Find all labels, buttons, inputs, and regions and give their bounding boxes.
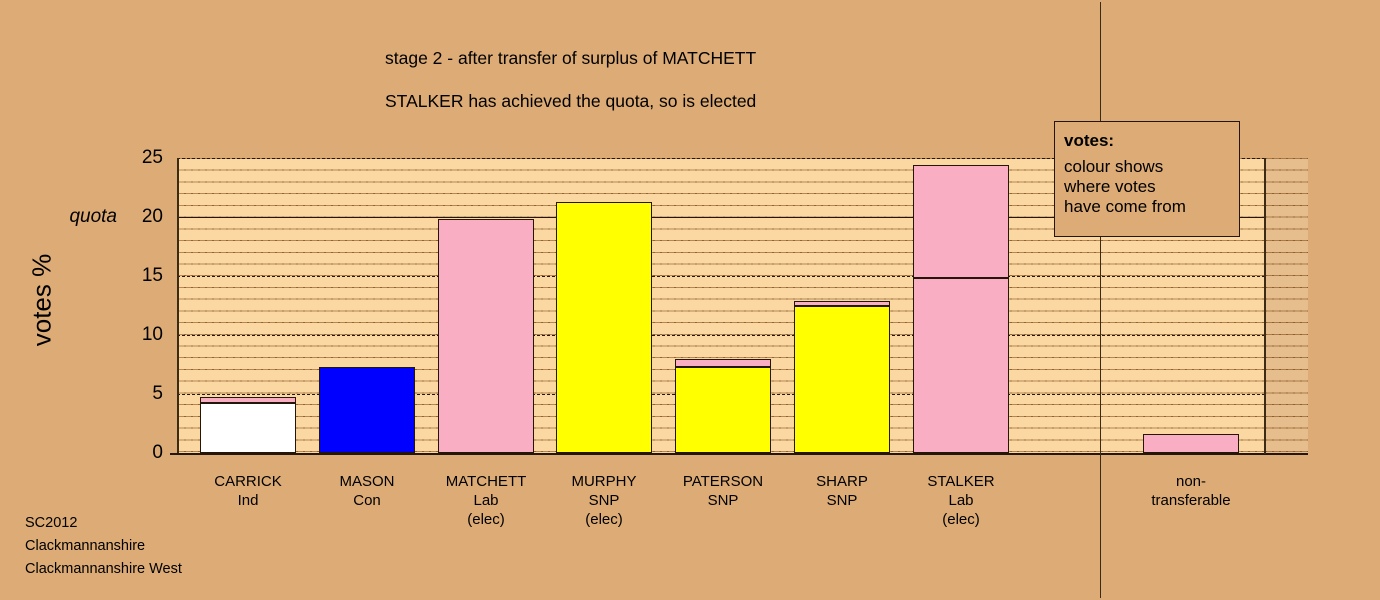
- legend-body: colour shows where votes have come from: [1064, 157, 1239, 217]
- ytick-5: 5: [152, 383, 163, 405]
- bar-paterson[interactable]: [675, 361, 771, 453]
- xlabel-status: (elec): [426, 510, 546, 529]
- ytick-0: 0: [152, 442, 163, 464]
- plot-right-border: [1264, 158, 1266, 454]
- legend-box: votes: colour shows where votes have com…: [1054, 121, 1240, 237]
- footer-ward: Clackmannanshire West: [25, 558, 182, 581]
- xlabel-paterson: PATERSON SNP: [663, 472, 783, 510]
- bar-segment-snp: [675, 367, 771, 453]
- bar-non-transferable[interactable]: [1143, 434, 1239, 453]
- bar-segment-ind: [200, 403, 296, 453]
- bar-matchett[interactable]: [438, 219, 534, 453]
- legend-line-2: where votes: [1064, 177, 1239, 197]
- xlabel-matchett: MATCHETT Lab (elec): [426, 472, 546, 529]
- bar-segment-transfer: [913, 165, 1009, 278]
- bar-murphy[interactable]: [556, 202, 652, 453]
- xlabel-party: SNP: [663, 491, 783, 510]
- bar-segment-transfer: [1143, 434, 1239, 453]
- y-axis-line: [177, 158, 179, 454]
- legend-line-1: colour shows: [1064, 157, 1239, 177]
- xlabel-name: MURPHY: [544, 472, 664, 491]
- footer-code: SC2012: [25, 512, 182, 535]
- legend-line-3: have come from: [1064, 197, 1239, 217]
- ytick-20: 20: [142, 206, 163, 228]
- bar-carrick[interactable]: [200, 399, 296, 453]
- xlabel-murphy: MURPHY SNP (elec): [544, 472, 664, 529]
- bars-layer: [0, 0, 1380, 600]
- xlabel-status: (elec): [901, 510, 1021, 529]
- bar-sharp[interactable]: [794, 303, 890, 453]
- chart-canvas: stage 2 - after transfer of surplus of M…: [0, 0, 1380, 600]
- xlabel-party: transferable: [1131, 491, 1251, 510]
- y-axis-title: votes %: [27, 254, 58, 347]
- xlabel-stalker: STALKER Lab (elec): [901, 472, 1021, 529]
- xlabel-name: non-: [1131, 472, 1251, 491]
- bar-mason[interactable]: [319, 367, 415, 453]
- bar-segment-lab: [913, 278, 1009, 453]
- xlabel-party: SNP: [544, 491, 664, 510]
- bar-segment-transfer: [794, 301, 890, 306]
- bar-segment-snp: [556, 202, 652, 453]
- bar-segment-transfer: [675, 359, 771, 367]
- xlabel-party: Lab: [426, 491, 546, 510]
- ytick-25: 25: [142, 147, 163, 169]
- x-axis-line: [170, 453, 1308, 455]
- bar-segment-lab: [438, 219, 534, 453]
- bar-segment-snp: [794, 306, 890, 453]
- xlabel-name: MASON: [307, 472, 427, 491]
- xlabel-party: Lab: [901, 491, 1021, 510]
- xlabel-party: Ind: [188, 491, 308, 510]
- quota-label: quota: [69, 206, 117, 228]
- xlabel-name: CARRICK: [188, 472, 308, 491]
- xlabel-party: Con: [307, 491, 427, 510]
- bar-segment-con: [319, 367, 415, 453]
- bar-segment-transfer: [200, 397, 296, 403]
- ytick-15: 15: [142, 265, 163, 287]
- y-axis-ticks: 0 5 10 15 20 25 quota votes %: [60, 0, 163, 600]
- bar-stalker[interactable]: [913, 166, 1009, 453]
- footer-block: SC2012 Clackmannanshire Clackmannanshire…: [25, 512, 182, 581]
- xlabel-status: (elec): [544, 510, 664, 529]
- xlabel-sharp: SHARP SNP: [782, 472, 902, 510]
- xlabel-carrick: CARRICK Ind: [188, 472, 308, 510]
- xlabel-name: STALKER: [901, 472, 1021, 491]
- xlabel-party: SNP: [782, 491, 902, 510]
- xlabel-non-transferable: non- transferable: [1131, 472, 1251, 510]
- footer-council: Clackmannanshire: [25, 535, 182, 558]
- xlabel-mason: MASON Con: [307, 472, 427, 510]
- xlabel-name: MATCHETT: [426, 472, 546, 491]
- legend-title: votes:: [1064, 131, 1239, 151]
- xlabel-name: SHARP: [782, 472, 902, 491]
- xlabel-name: PATERSON: [663, 472, 783, 491]
- ytick-10: 10: [142, 324, 163, 346]
